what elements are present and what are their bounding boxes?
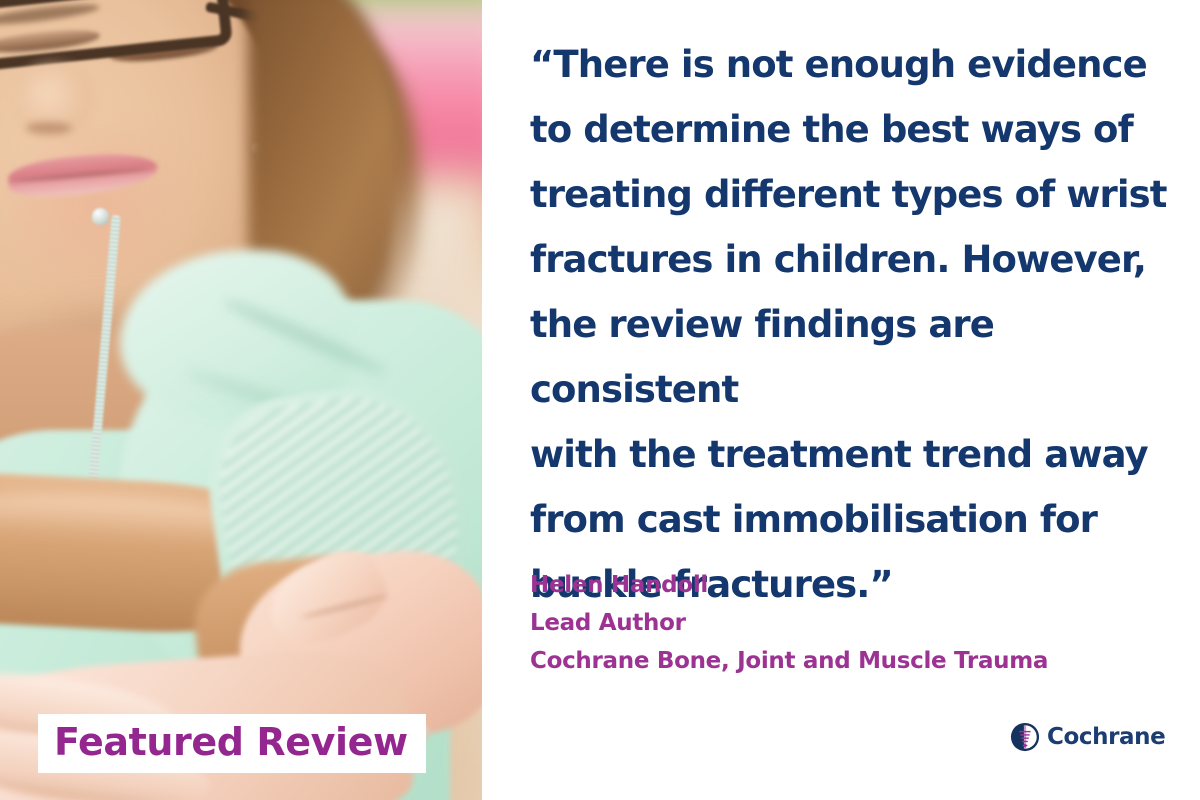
author-group: Cochrane Bone, Joint and Muscle Trauma — [530, 642, 1180, 680]
photo-panel: Featured Review — [0, 0, 482, 800]
attribution-block: Helen Handoll Lead Author Cochrane Bone,… — [530, 566, 1180, 680]
cochrane-logo: Cochrane — [1010, 722, 1165, 752]
cochrane-wordmark: Cochrane — [1047, 722, 1165, 752]
featured-review-badge-label: Featured Review — [54, 720, 408, 764]
author-name: Helen Handoll — [530, 566, 1180, 604]
child-nostril — [26, 122, 72, 134]
author-role: Lead Author — [530, 604, 1180, 642]
cochrane-forest-plot-icon — [1010, 722, 1040, 752]
featured-review-card: Featured Review “There is not enough evi… — [0, 0, 1200, 800]
featured-review-badge: Featured Review — [38, 714, 426, 773]
hoodie-zipper-pull — [92, 208, 109, 225]
pull-quote: “There is not enough evidence to determi… — [530, 32, 1180, 617]
content-panel: “There is not enough evidence to determi… — [482, 0, 1200, 800]
